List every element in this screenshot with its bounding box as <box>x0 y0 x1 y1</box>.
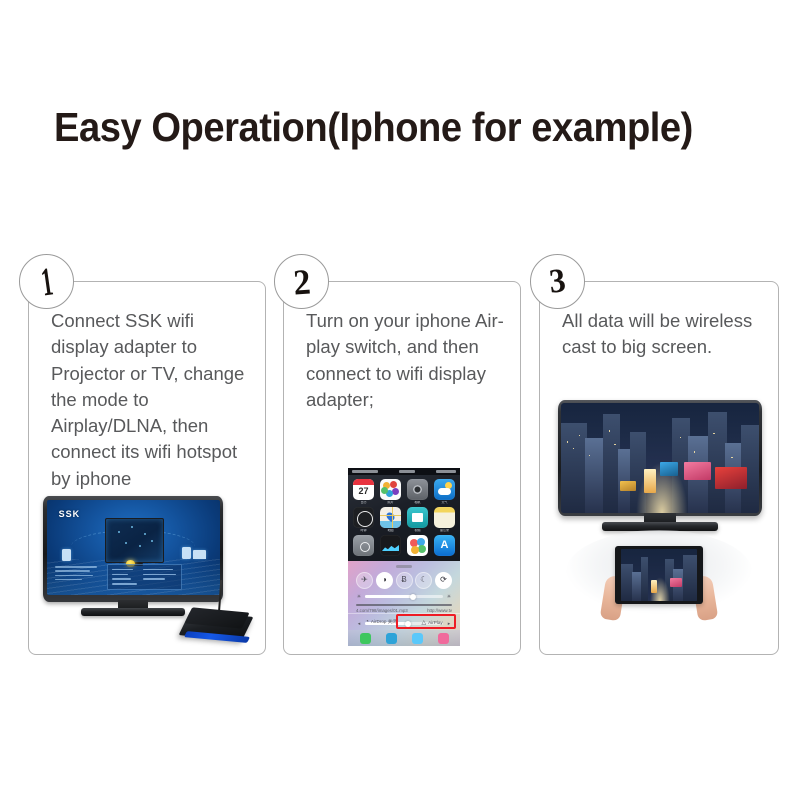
infographic-page: Easy Operation(Iphone for example) Conne… <box>0 0 800 800</box>
dock-icon-safari[interactable] <box>412 633 423 644</box>
step-panel-3: All data will be wireless cast to big sc… <box>539 281 779 655</box>
control-center: ✈ ◑ Ƀ ☾ ⟳ ☀ ☀ 4.com/798/images/01 <box>348 561 460 646</box>
ios-status-bar <box>348 468 460 475</box>
airplay-highlight-box <box>396 614 456 629</box>
rotation-lock-toggle[interactable]: ⟳ <box>435 572 452 589</box>
brightness-low-icon: ☀ <box>356 594 362 600</box>
dock-icon-mail[interactable] <box>386 633 397 644</box>
step-badge-1: 1 <box>19 254 74 309</box>
screen-info-box <box>107 564 182 590</box>
app-row: 27 日历 照片 <box>353 479 455 504</box>
brightness-track[interactable] <box>365 595 443 598</box>
wifi-toggle[interactable]: ◑ <box>376 572 393 589</box>
dock-icon-phone[interactable] <box>360 633 371 644</box>
big-screen-tv <box>558 400 762 532</box>
app-icon-settings[interactable] <box>353 535 374 556</box>
app-row: 时钟 地图 视频 备忘录 <box>353 507 455 532</box>
app-icon-calendar[interactable]: 27 日历 <box>353 479 374 504</box>
target-device-icons <box>182 547 206 559</box>
app-icon-notes[interactable]: 备忘录 <box>434 507 455 532</box>
ios-dock <box>348 630 460 646</box>
tv-stand-base <box>81 608 185 616</box>
app-icon-videos[interactable]: 视频 <box>407 507 428 532</box>
step-1-text: Connect SSK wifi display adapter to Proj… <box>51 308 253 492</box>
app-label: 地图 <box>380 529 401 532</box>
app-label: 相机 <box>407 501 428 504</box>
airdrop-label: AirDrop 关闭 <box>371 619 397 625</box>
ssk-logo: SSK <box>59 509 81 519</box>
step-number: 1 <box>38 261 54 302</box>
step-badge-3: 3 <box>530 254 585 309</box>
app-icon-weather[interactable]: 天气 <box>434 479 455 504</box>
app-label: 备忘录 <box>434 529 455 532</box>
inner-tv-graphic <box>105 518 164 563</box>
step-3-artwork <box>548 400 770 640</box>
airdrop-icon: ◔ <box>365 619 369 625</box>
tv-bezel <box>558 400 762 516</box>
screen-side-text <box>55 566 100 585</box>
app-icon-camera[interactable]: 相机 <box>407 479 428 504</box>
moon-icon: ☾ <box>420 576 427 584</box>
step-1-artwork: SSK <box>39 494 257 646</box>
step-3-text: All data will be wireless cast to big sc… <box>562 308 766 361</box>
app-icon-maps[interactable]: 地图 <box>380 507 401 532</box>
step-panel-2: Turn on your iphone Air-play switch, and… <box>283 281 521 655</box>
grabber-handle[interactable] <box>396 565 412 568</box>
step-number: 3 <box>548 264 568 300</box>
step-number: 2 <box>292 263 312 300</box>
wifi-icon: ◑ <box>382 576 387 584</box>
do-not-disturb-toggle[interactable]: ☾ <box>415 572 432 589</box>
ios-home-screen: 27 日历 照片 <box>348 475 460 561</box>
step-badge-2: 2 <box>274 254 329 309</box>
app-row <box>353 535 455 556</box>
app-icon-game-center[interactable] <box>407 535 428 556</box>
source-device-icons <box>62 549 71 561</box>
step-panel-1: Connect SSK wifi display adapter to Proj… <box>28 281 266 655</box>
airplane-mode-toggle[interactable]: ✈ <box>356 572 373 589</box>
app-icon-app-store[interactable] <box>434 535 455 556</box>
app-label: 天气 <box>434 501 455 504</box>
bluetooth-toggle[interactable]: Ƀ <box>396 572 413 589</box>
dock-icon-music[interactable] <box>438 633 449 644</box>
app-label: 视频 <box>407 529 428 532</box>
app-label: 日历 <box>353 501 374 504</box>
iphone-screenshot: 27 日历 照片 <box>348 468 460 646</box>
times-square-scene <box>561 403 759 513</box>
step-2-text: Turn on your iphone Air-play switch, and… <box>306 308 508 413</box>
calendar-day: 27 <box>353 485 374 498</box>
app-label: 时钟 <box>353 529 374 532</box>
media-progress-bar[interactable] <box>356 604 452 606</box>
rotation-lock-icon: ⟳ <box>440 576 447 584</box>
page-title: Easy Operation(Iphone for example) <box>54 104 693 151</box>
media-url: http://www.tv <box>427 608 452 613</box>
app-icon-stocks[interactable] <box>380 535 401 556</box>
toggle-row: ✈ ◑ Ƀ ☾ ⟳ <box>354 572 454 589</box>
app-icon-photos[interactable]: 照片 <box>380 479 401 504</box>
tablet-device <box>615 546 703 604</box>
bluetooth-icon: Ƀ <box>401 576 406 584</box>
media-track-path: 4.com/798/images/01.mp3 <box>356 608 408 613</box>
brightness-slider[interactable]: ☀ ☀ <box>354 594 454 600</box>
media-info: 4.com/798/images/01.mp3 http://www.tv <box>354 604 454 613</box>
tablet-screen <box>621 549 697 601</box>
brightness-high-icon: ☀ <box>446 594 452 600</box>
app-icon-clock[interactable]: 时钟 <box>353 507 374 532</box>
airplane-icon: ✈ <box>361 576 368 584</box>
app-label: 照片 <box>380 501 401 504</box>
wifi-display-dongle <box>181 580 255 642</box>
